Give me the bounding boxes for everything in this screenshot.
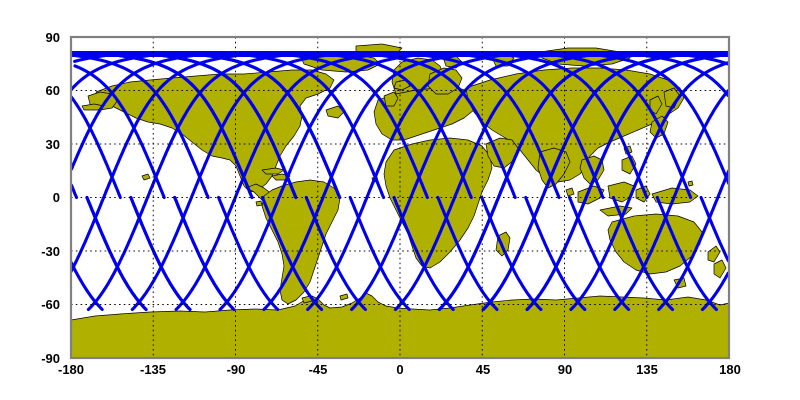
x-tick-label: -90 [206, 362, 266, 377]
y-tick-label: 90 [16, 30, 60, 45]
x-tick-label: -180 [41, 362, 101, 377]
y-tick-label: 30 [16, 137, 60, 152]
land-galapagos [256, 201, 262, 206]
x-tick-label: 90 [535, 362, 595, 377]
x-tick-label: 135 [617, 362, 677, 377]
x-tick-label: 0 [370, 362, 430, 377]
y-tick-label: 60 [16, 83, 60, 98]
y-tick-label: -60 [16, 297, 60, 312]
land-marshall-islands [688, 181, 693, 186]
y-tick-label: 0 [16, 190, 60, 205]
orbit-map-figure [0, 0, 800, 400]
x-tick-label: -45 [288, 362, 348, 377]
x-tick-label: 45 [453, 362, 513, 377]
y-tick-label: -30 [16, 244, 60, 259]
x-tick-label: -135 [123, 362, 183, 377]
x-tick-label: 180 [700, 362, 760, 377]
